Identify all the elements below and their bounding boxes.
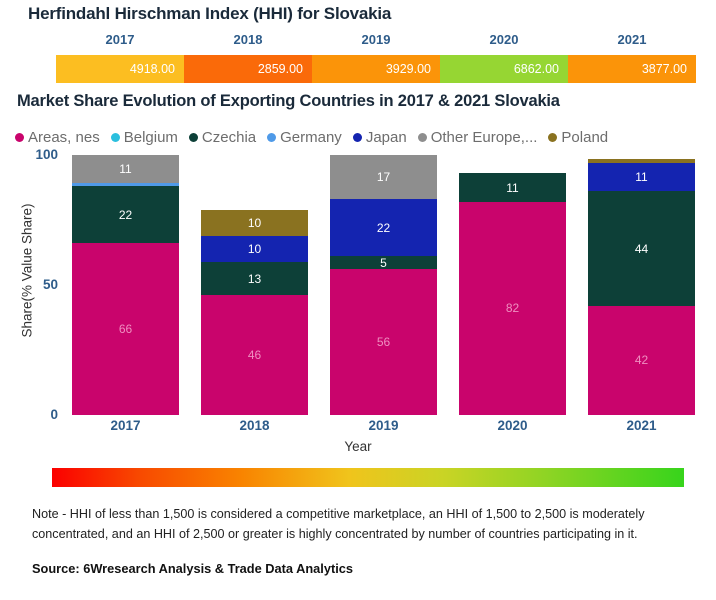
legend-item-label: Germany <box>280 129 342 146</box>
hhi-value-cell: 3929.00 <box>312 55 440 83</box>
x-axis-tick-label: 2018 <box>194 418 323 436</box>
bar-segment-value: 46 <box>248 349 261 361</box>
stacked-bars: 6622114613101056522178211424411 <box>65 155 710 415</box>
bar-stack: 662211 <box>72 155 179 415</box>
hhi-value-bar: 4918.002859.003929.006862.003877.00 <box>56 55 696 83</box>
bar-column: 5652217 <box>323 155 452 415</box>
bar-column: 46131010 <box>194 155 323 415</box>
y-axis-tick-label: 0 <box>14 407 58 422</box>
bar-segment[interactable]: 44 <box>588 191 695 305</box>
legend-item-label: Japan <box>366 129 407 146</box>
source-text: Source: 6Wresearch Analysis & Trade Data… <box>32 561 353 576</box>
bar-segment-value: 11 <box>635 171 647 183</box>
bar-segment[interactable]: 11 <box>72 155 179 184</box>
bar-segment[interactable]: 22 <box>72 186 179 243</box>
x-axis-tick-label: 2019 <box>323 418 452 436</box>
chart-title: Market Share Evolution of Exporting Coun… <box>17 92 560 111</box>
bar-segment-value: 11 <box>119 163 131 175</box>
hhi-year-row: 20172018201920202021 <box>56 32 696 52</box>
bar-segment[interactable]: 11 <box>588 163 695 192</box>
bar-column: 662211 <box>65 155 194 415</box>
note-text: Note - HHI of less than 1,500 is conside… <box>32 505 700 544</box>
hhi-year-label: 2020 <box>440 32 568 52</box>
hhi-value-cell: 6862.00 <box>440 55 568 83</box>
bar-stack: 424411 <box>588 159 695 415</box>
legend-item-label: Belgium <box>124 129 178 146</box>
bar-segment[interactable]: 5 <box>330 256 437 269</box>
bar-segment[interactable]: 82 <box>459 202 566 415</box>
x-axis-tick-label: 2017 <box>65 418 194 436</box>
bar-segment-value: 11 <box>506 182 518 194</box>
y-axis-tick-label: 100 <box>14 147 58 162</box>
y-axis-tick-label: 50 <box>14 277 58 292</box>
bar-segment-value: 44 <box>635 243 648 255</box>
hhi-year-label: 2019 <box>312 32 440 52</box>
y-axis-ticks: 100500 <box>10 155 58 415</box>
bar-segment[interactable]: 42 <box>588 306 695 415</box>
bar-segment-value: 17 <box>377 171 390 183</box>
legend-item-label: Other Europe,... <box>431 129 538 146</box>
legend-swatch-icon <box>15 133 24 142</box>
hhi-value-cell: 2859.00 <box>184 55 312 83</box>
legend-item[interactable]: Japan <box>353 129 407 146</box>
bar-segment-value: 22 <box>377 222 390 234</box>
legend-item-label: Czechia <box>202 129 256 146</box>
bar-stack: 8211 <box>459 173 566 415</box>
bar-column: 424411 <box>581 155 710 415</box>
hhi-year-label: 2018 <box>184 32 312 52</box>
bar-segment-value: 10 <box>248 243 261 255</box>
legend-swatch-icon <box>189 133 198 142</box>
bar-column: 8211 <box>452 155 581 415</box>
legend-item[interactable]: Germany <box>267 129 342 146</box>
legend-item[interactable]: Other Europe,... <box>418 129 538 146</box>
bar-segment[interactable]: 66 <box>72 243 179 415</box>
plot-area: Share(% Value Share) 100500 662211461310… <box>0 155 716 415</box>
x-axis-tick-label: 2021 <box>581 418 710 436</box>
bar-segment[interactable]: 56 <box>330 269 437 415</box>
chart-legend: Areas, nesBelgiumCzechiaGermanyJapanOthe… <box>15 126 705 148</box>
bar-segment[interactable]: 11 <box>459 173 566 202</box>
legend-item-label: Areas, nes <box>28 129 100 146</box>
bar-segment[interactable]: 46 <box>201 295 308 415</box>
bar-segment-value: 56 <box>377 336 390 348</box>
x-axis-ticks: 20172018201920202021 <box>65 418 710 436</box>
hhi-year-label: 2017 <box>56 32 184 52</box>
legend-swatch-icon <box>548 133 557 142</box>
bar-stack: 46131010 <box>201 210 308 415</box>
legend-item[interactable]: Belgium <box>111 129 178 146</box>
bar-segment-value: 13 <box>248 273 261 285</box>
hhi-title: Herfindahl Hirschman Index (HHI) for Slo… <box>28 4 391 24</box>
legend-item[interactable]: Czechia <box>189 129 256 146</box>
bar-segment[interactable]: 10 <box>201 210 308 236</box>
legend-item-label: Poland <box>561 129 608 146</box>
legend-swatch-icon <box>418 133 427 142</box>
legend-swatch-icon <box>111 133 120 142</box>
bar-segment-value: 42 <box>635 354 648 366</box>
bar-segment-value: 10 <box>248 217 261 229</box>
bar-segment[interactable]: 13 <box>201 262 308 296</box>
bar-stack: 5652217 <box>330 155 437 415</box>
legend-item[interactable]: Areas, nes <box>15 129 100 146</box>
legend-swatch-icon <box>353 133 362 142</box>
bar-segment-value: 66 <box>119 323 132 335</box>
legend-swatch-icon <box>267 133 276 142</box>
bar-segment-value: 5 <box>380 257 387 269</box>
bar-segment-value: 22 <box>119 209 132 221</box>
hhi-gradient-scale <box>52 468 684 487</box>
hhi-value-cell: 4918.00 <box>56 55 184 83</box>
bar-segment[interactable]: 22 <box>330 199 437 256</box>
bar-segment[interactable]: 10 <box>201 236 308 262</box>
bar-segment-value: 82 <box>506 302 519 314</box>
x-axis-title: Year <box>0 439 716 454</box>
bar-segment[interactable]: 17 <box>330 155 437 199</box>
legend-item[interactable]: Poland <box>548 129 608 146</box>
hhi-year-label: 2021 <box>568 32 696 52</box>
x-axis-tick-label: 2020 <box>452 418 581 436</box>
hhi-value-cell: 3877.00 <box>568 55 696 83</box>
